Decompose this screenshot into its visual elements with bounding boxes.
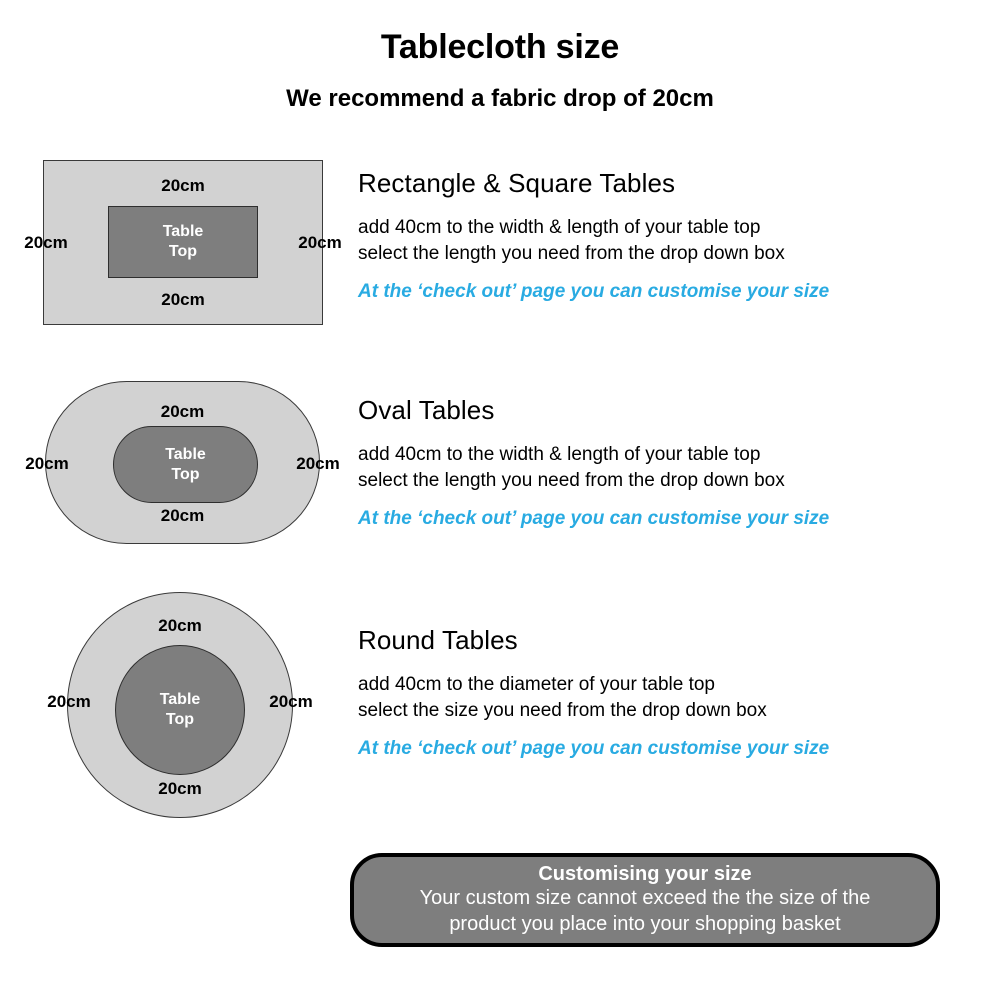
oval-section-heading: Oval Tables xyxy=(358,395,978,426)
round-dim-right: 20cm xyxy=(251,692,331,712)
round-section-text: Round Tables add 40cm to the diameter of… xyxy=(358,625,978,760)
rectangle-dim-right: 20cm xyxy=(280,233,360,253)
oval-table-top: Table Top xyxy=(113,426,258,503)
rectangle-section-heading: Rectangle & Square Tables xyxy=(358,168,978,199)
round-table-top: Table Top xyxy=(115,645,245,775)
rectangle-table-top: Table Top xyxy=(108,206,258,278)
round-section-line1: add 40cm to the diameter of your table t… xyxy=(358,672,978,698)
round-table-top-label-line2: Top xyxy=(166,710,194,730)
rectangle-section-text: Rectangle & Square Tables add 40cm to th… xyxy=(358,168,978,303)
oval-dim-bottom: 20cm xyxy=(45,506,320,526)
oval-dim-left: 20cm xyxy=(7,454,87,474)
round-section-heading: Round Tables xyxy=(358,625,978,656)
page-subtitle: We recommend a fabric drop of 20cm xyxy=(0,85,1000,113)
round-dim-top: 20cm xyxy=(67,616,293,636)
rectangle-dim-left: 20cm xyxy=(6,233,86,253)
callout-line1: Your custom size cannot exceed the the s… xyxy=(420,886,871,912)
round-dim-bottom: 20cm xyxy=(67,779,293,799)
oval-dim-right: 20cm xyxy=(278,454,358,474)
oval-table-top-label-line2: Top xyxy=(171,465,199,485)
rectangle-dim-bottom: 20cm xyxy=(43,290,323,310)
oval-dim-top: 20cm xyxy=(45,402,320,422)
page-title: Tablecloth size xyxy=(0,28,1000,67)
round-dim-left: 20cm xyxy=(29,692,109,712)
round-table-top-label-line1: Table xyxy=(160,690,201,710)
round-section-note: At the ‘check out’ page you can customis… xyxy=(358,738,978,760)
oval-section-note: At the ‘check out’ page you can customis… xyxy=(358,508,978,530)
rectangle-table-diagram: 20cm 20cm 20cm 20cm Table Top xyxy=(43,160,323,325)
rectangle-table-top-label-line1: Table xyxy=(163,222,204,242)
oval-section-text: Oval Tables add 40cm to the width & leng… xyxy=(358,395,978,530)
rectangle-table-top-label-line2: Top xyxy=(169,242,197,262)
oval-section-line2: select the length you need from the drop… xyxy=(358,468,978,494)
rectangle-section-line2: select the length you need from the drop… xyxy=(358,241,978,267)
rectangle-section-note: At the ‘check out’ page you can customis… xyxy=(358,281,978,303)
customising-your-size-callout: Customising your size Your custom size c… xyxy=(350,853,940,947)
round-table-diagram: 20cm 20cm 20cm 20cm Table Top xyxy=(67,592,293,818)
rectangle-section-line1: add 40cm to the width & length of your t… xyxy=(358,215,978,241)
oval-table-top-label-line1: Table xyxy=(165,445,206,465)
oval-table-diagram: 20cm 20cm 20cm 20cm Table Top xyxy=(45,381,320,544)
callout-title: Customising your size xyxy=(538,863,751,887)
oval-section-line1: add 40cm to the width & length of your t… xyxy=(358,442,978,468)
rectangle-dim-top: 20cm xyxy=(43,176,323,196)
round-section-line2: select the size you need from the drop d… xyxy=(358,698,978,724)
callout-line2: product you place into your shopping bas… xyxy=(449,912,840,938)
